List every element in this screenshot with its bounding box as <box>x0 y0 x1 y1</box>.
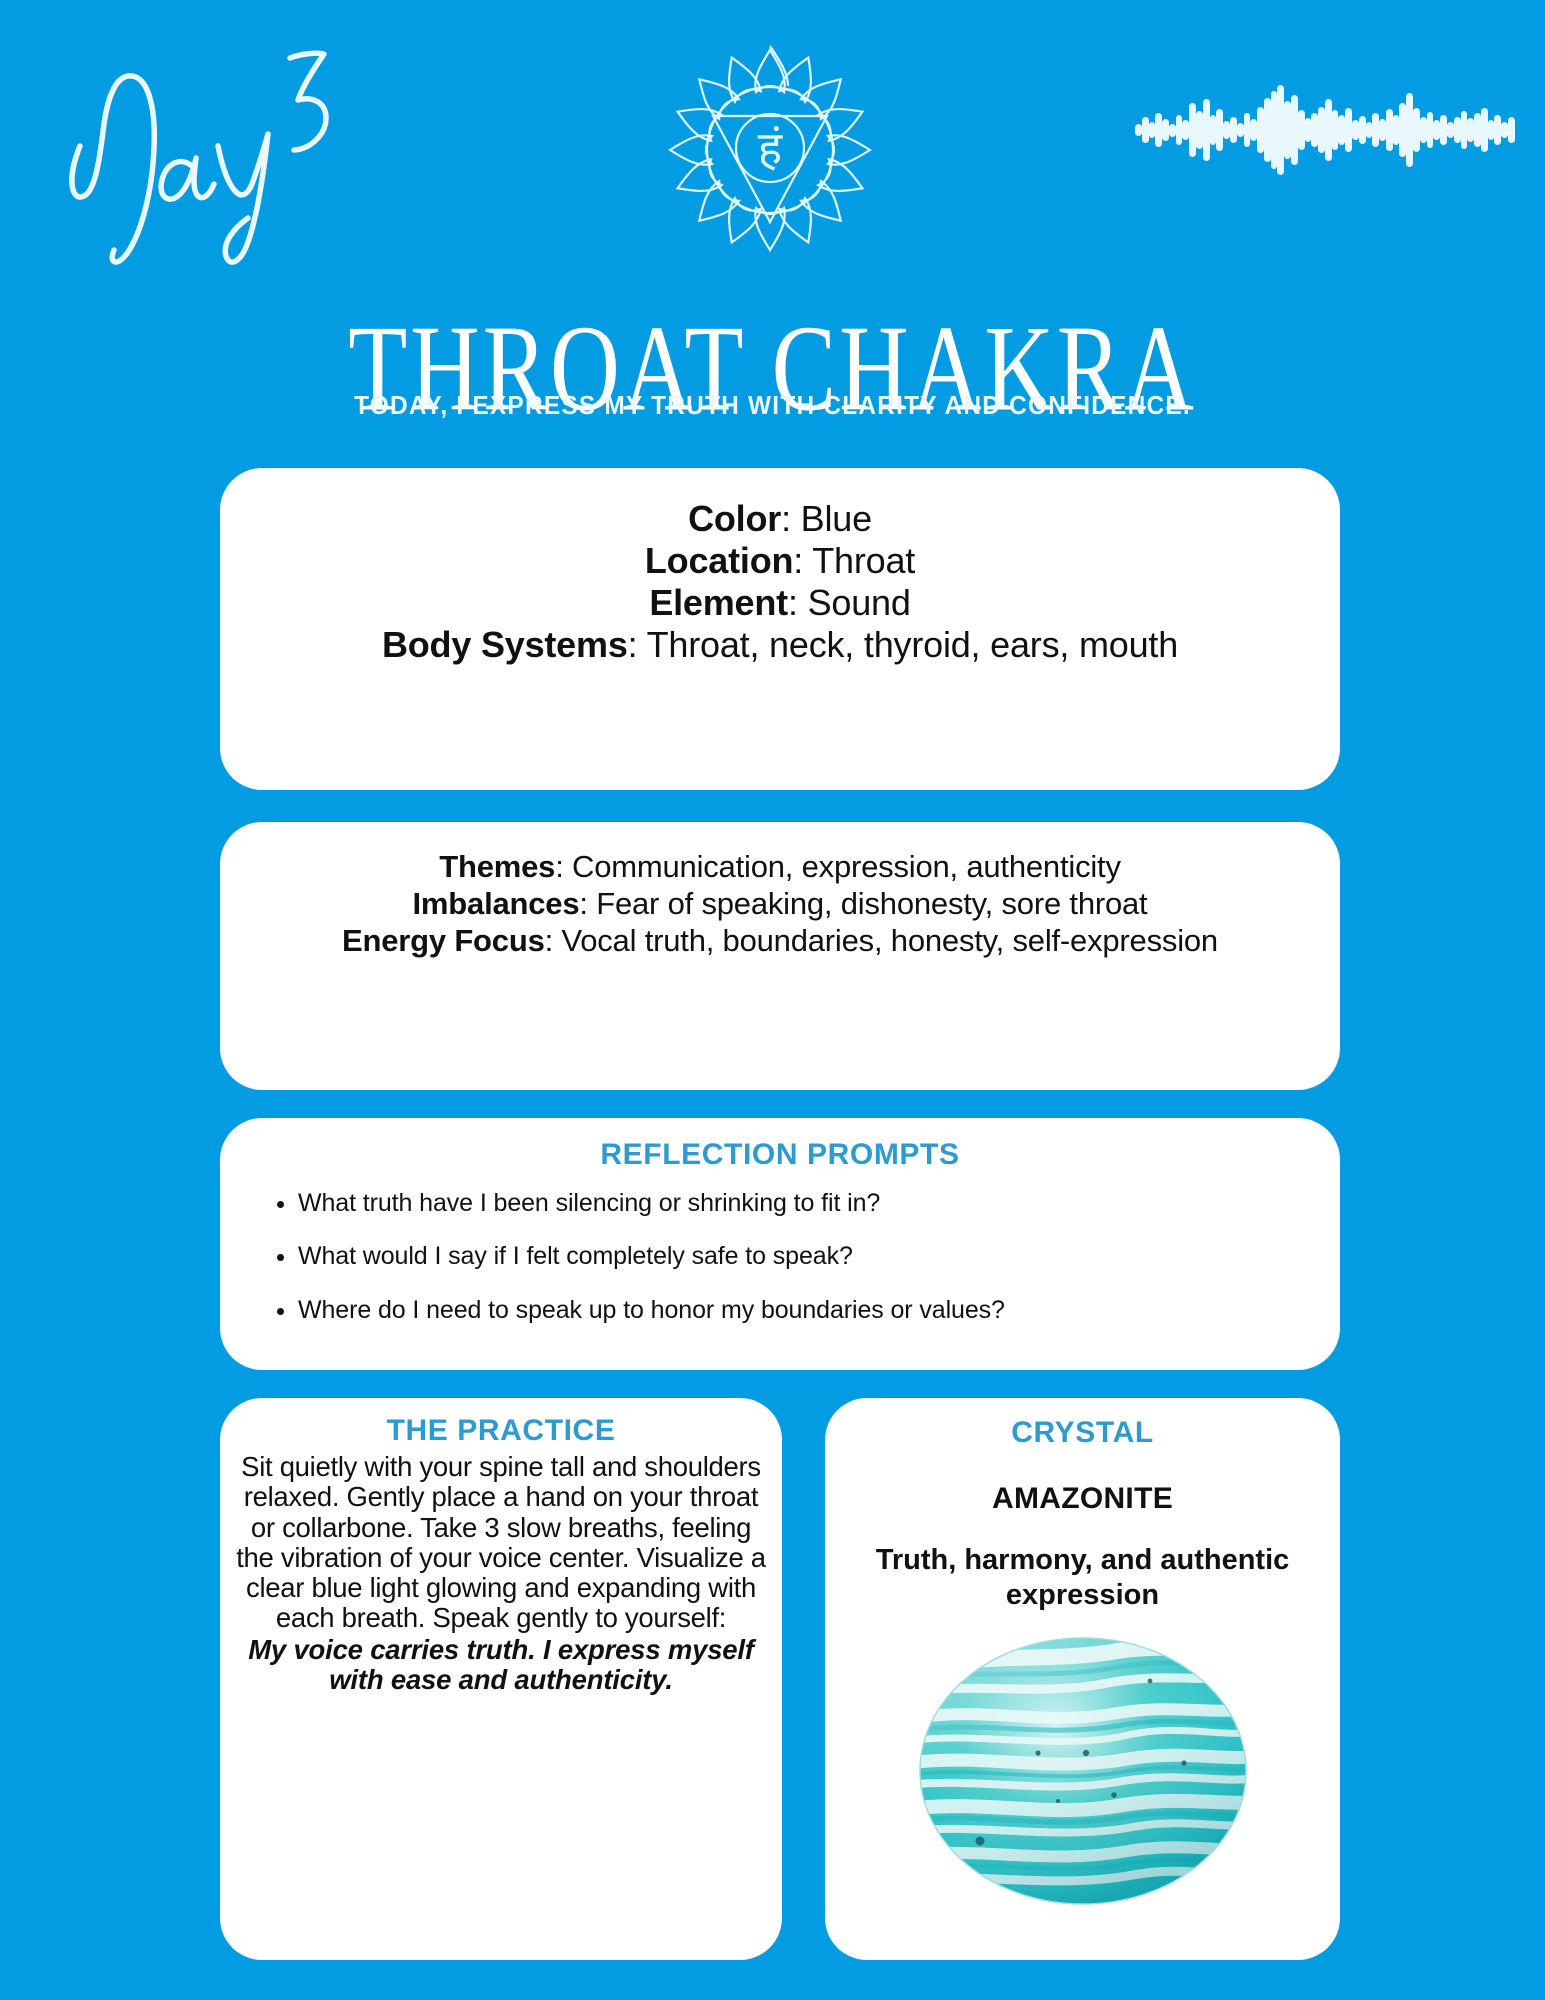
themes-row: Themes: Communication, expression, authe… <box>260 848 1300 885</box>
reflection-prompts-list: What truth have I been silencing or shri… <box>220 1188 1340 1326</box>
amazonite-stone-photo <box>825 1635 1340 1907</box>
themes-value: Vocal truth, boundaries, honesty, self-e… <box>561 923 1218 958</box>
themes-value: Fear of speaking, dishonesty, sore throa… <box>596 886 1147 921</box>
themes-text: Themes: Communication, expression, authe… <box>220 822 1340 960</box>
practice-affirmation: My voice carries truth. I express myself… <box>236 1635 766 1696</box>
overview-value: Throat <box>812 540 915 581</box>
overview-label: Element <box>649 582 788 623</box>
day-script-label <box>42 38 342 268</box>
practice-instructions: Sit quietly with your spine tall and sho… <box>236 1451 766 1633</box>
overview-row: Element: Sound <box>266 582 1294 624</box>
vishuddha-lotus-icon: हं <box>660 40 880 260</box>
crystal-description: Truth, harmony, and authentic expression <box>825 1543 1340 1613</box>
overview-row: Color: Blue <box>266 498 1294 540</box>
themes-label: Themes <box>439 849 555 884</box>
overview-value: Blue <box>801 498 872 539</box>
audio-waveform-icon <box>1135 85 1515 175</box>
themes-value: Communication, expression, authenticity <box>572 849 1121 884</box>
chakra-bija-glyph: हं <box>758 121 784 175</box>
themes-row: Imbalances: Fear of speaking, dishonesty… <box>260 885 1300 922</box>
themes-label: Imbalances <box>413 886 580 921</box>
poster-page: हं THROAT CHAKRA TODAY, I EXPRESS MY TRU… <box>0 0 1545 2000</box>
affirmation-tagline: TODAY, I EXPRESS MY TRUTH WITH CLARITY A… <box>46 390 1498 421</box>
overview-row: Body Systems: Throat, neck, thyroid, ear… <box>266 624 1294 666</box>
overview-row: Location: Throat <box>266 540 1294 582</box>
overview-value: Sound <box>808 582 911 623</box>
overview-label: Body Systems <box>382 624 628 665</box>
list-item: What truth have I been silencing or shri… <box>298 1188 1306 1219</box>
themes-row: Energy Focus: Vocal truth, boundaries, h… <box>260 922 1300 959</box>
practice-body-text: Sit quietly with your spine tall and sho… <box>220 1448 782 1695</box>
overview-label: Location <box>645 540 793 581</box>
reflection-prompts-card: REFLECTION PROMPTS What truth have I bee… <box>220 1118 1340 1370</box>
list-item: Where do I need to speak up to honor my … <box>298 1295 1306 1326</box>
overview-label: Color <box>688 498 781 539</box>
the-practice-heading: THE PRACTICE <box>220 1398 782 1448</box>
crystal-name: AMAZONITE <box>825 1482 1340 1516</box>
crystal-heading: CRYSTAL <box>825 1398 1340 1450</box>
overview-text: Color: Blue Location: Throat Element: So… <box>220 468 1340 666</box>
chakra-themes-card: Themes: Communication, expression, authe… <box>220 822 1340 1090</box>
chakra-overview-card: Color: Blue Location: Throat Element: So… <box>220 468 1340 790</box>
overview-value: Throat, neck, thyroid, ears, mouth <box>647 624 1178 665</box>
the-practice-card: THE PRACTICE Sit quietly with your spine… <box>220 1398 782 1960</box>
reflection-prompts-heading: REFLECTION PROMPTS <box>220 1118 1340 1172</box>
list-item: What would I say if I felt completely sa… <box>298 1241 1306 1272</box>
themes-label: Energy Focus <box>342 923 545 958</box>
crystal-card: CRYSTAL AMAZONITE Truth, harmony, and au… <box>825 1398 1340 1960</box>
